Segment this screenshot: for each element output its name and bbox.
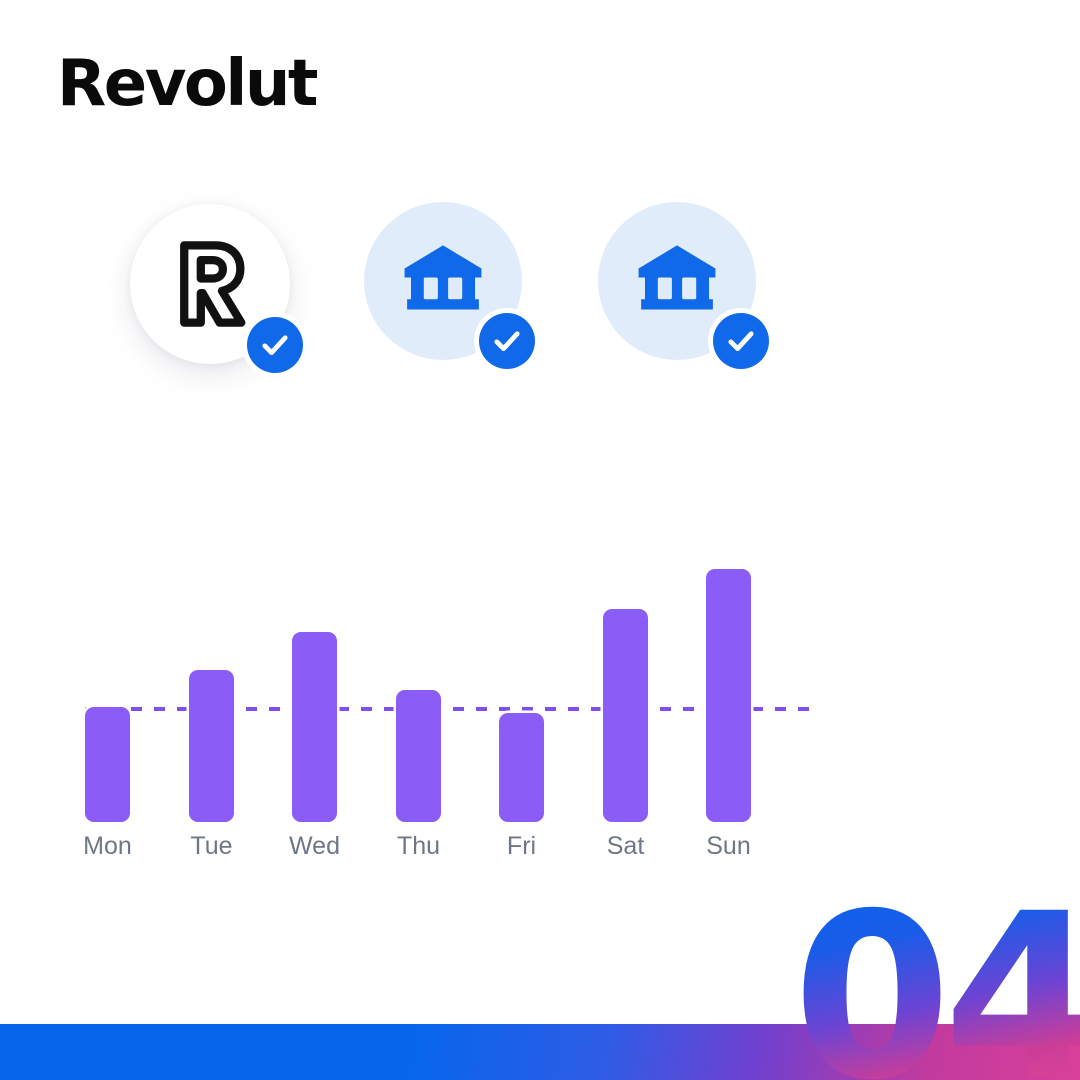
account-badge-revolut[interactable]: [130, 204, 290, 364]
x-tick-label-wed: Wed: [270, 826, 360, 866]
x-tick-label-thu: Thu: [374, 826, 464, 866]
chart-plot-area: [85, 540, 820, 822]
bank-icon: [636, 239, 718, 321]
check-icon: [724, 324, 758, 358]
x-tick-label-sat: Sat: [581, 826, 671, 866]
account-badge-bank-1[interactable]: [364, 202, 522, 360]
check-icon: [258, 328, 292, 362]
bank-icon: [402, 239, 484, 321]
linked-accounts-row: [0, 0, 1080, 470]
bar-column[interactable]: [499, 540, 544, 822]
bar-fri[interactable]: [499, 713, 544, 822]
bar-column[interactable]: [292, 540, 337, 822]
verified-badge-circle: [713, 313, 769, 369]
check-icon: [490, 324, 524, 358]
account-badge-bank-2[interactable]: [598, 202, 756, 360]
bar-column[interactable]: [189, 540, 234, 822]
bar-column[interactable]: [706, 540, 751, 822]
slide-number: 04: [793, 902, 1080, 1080]
slide-canvas: Revolut: [0, 0, 1080, 1080]
revolut-r-icon: [164, 238, 256, 330]
weekly-spend-bar-chart: MonTueWedThuFriSatSun: [0, 540, 1080, 880]
bar-column[interactable]: [603, 540, 648, 822]
bar-column[interactable]: [85, 540, 130, 822]
verified-badge-circle: [479, 313, 535, 369]
x-tick-label-tue: Tue: [167, 826, 257, 866]
x-tick-label-sun: Sun: [684, 826, 774, 866]
bar-sat[interactable]: [603, 609, 648, 822]
x-tick-label-fri: Fri: [477, 826, 567, 866]
x-tick-label-mon: Mon: [63, 826, 153, 866]
verified-badge: [474, 308, 540, 374]
bar-tue[interactable]: [189, 670, 234, 822]
bar-thu[interactable]: [396, 690, 441, 822]
verified-badge-circle: [247, 317, 303, 373]
x-axis-tick-labels: MonTueWedThuFriSatSun: [85, 826, 820, 866]
bar-column[interactable]: [396, 540, 441, 822]
bar-mon[interactable]: [85, 707, 130, 822]
verified-badge: [242, 312, 308, 378]
bar-wed[interactable]: [292, 632, 337, 822]
bar-sun[interactable]: [706, 569, 751, 822]
verified-badge: [708, 308, 774, 374]
